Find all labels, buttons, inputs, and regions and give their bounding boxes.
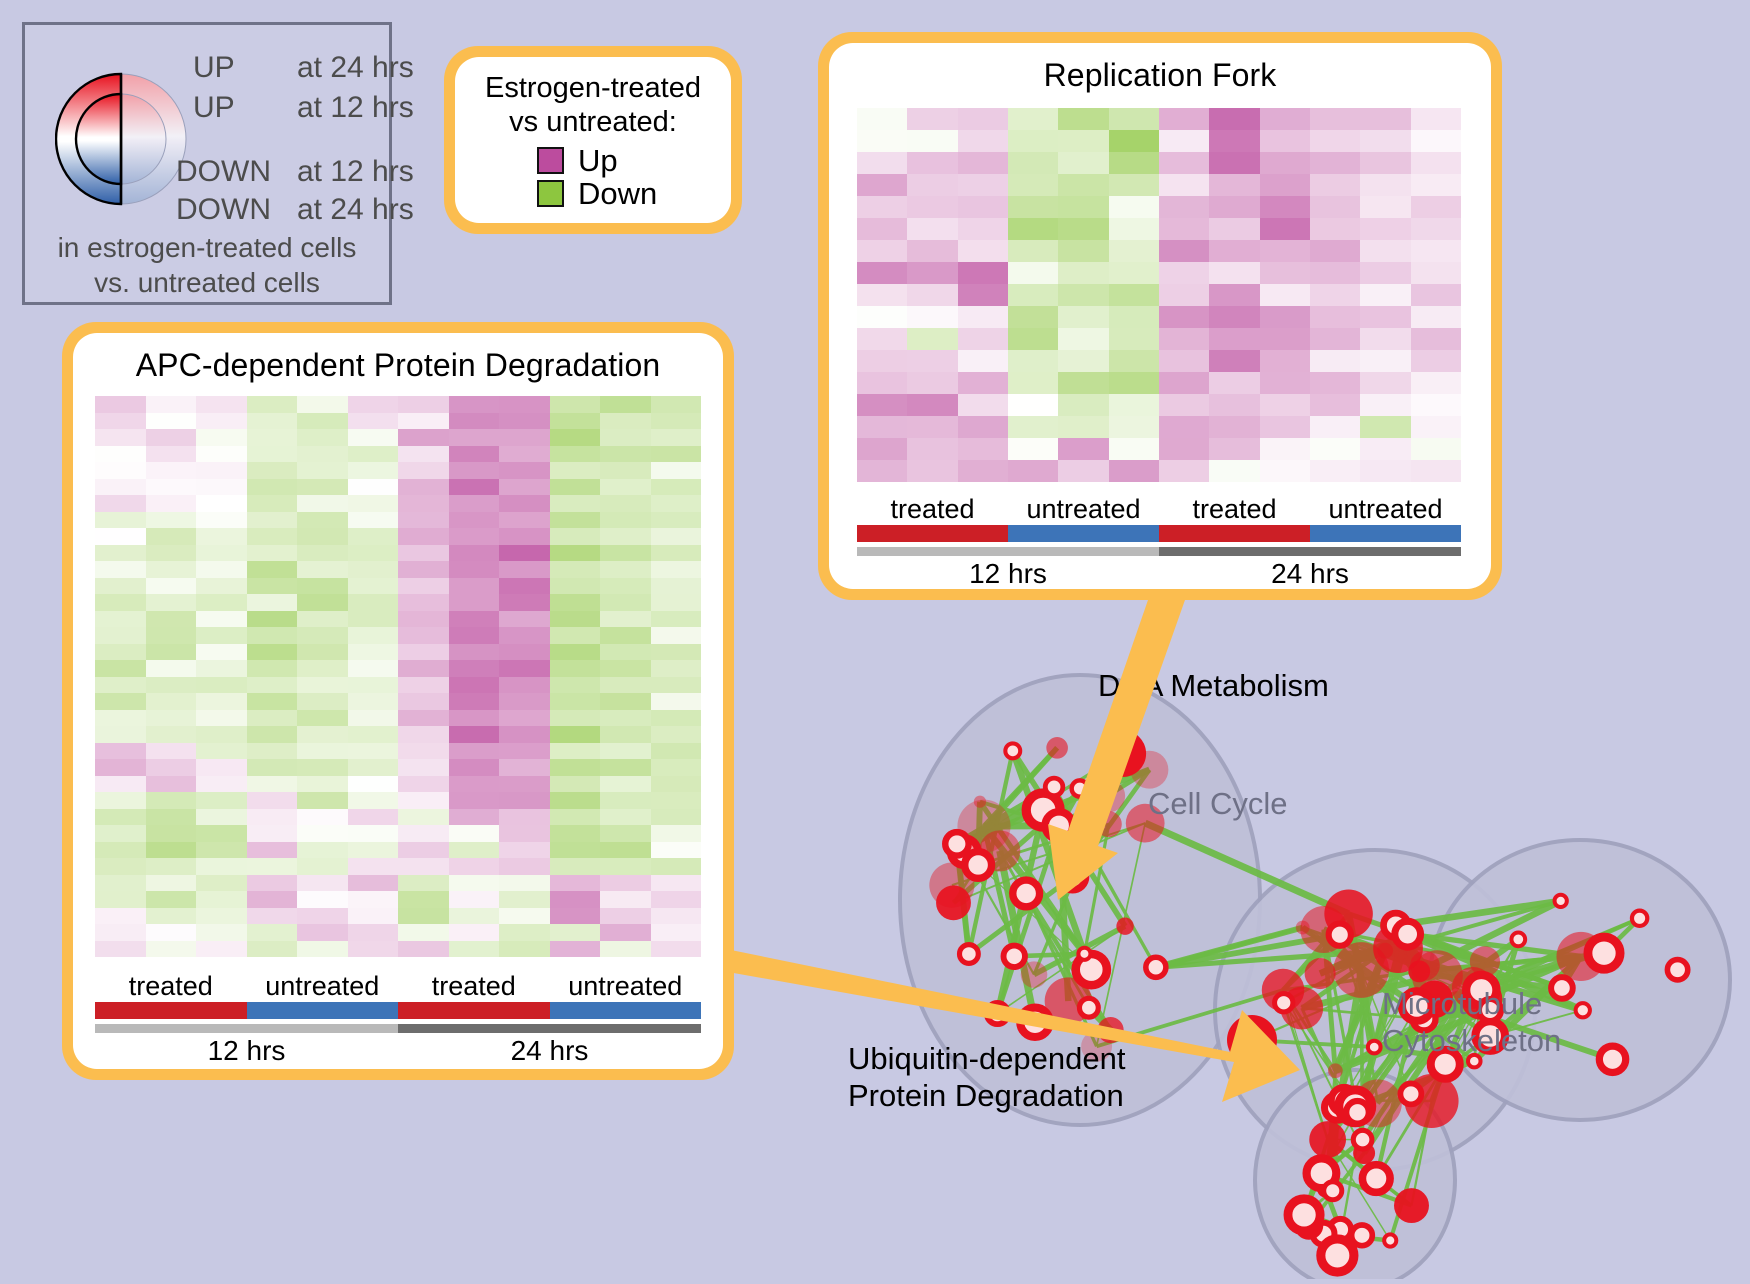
- heatmap-cell: [600, 743, 651, 760]
- heatmap-cell: [1411, 240, 1461, 262]
- heatmap-cell: [1360, 196, 1410, 218]
- heatmap-cell: [398, 561, 449, 578]
- heatmap-cell: [499, 710, 550, 727]
- legend-item-up: Up: [537, 145, 731, 176]
- heatmap-cell: [1260, 108, 1310, 130]
- condition-segment: [95, 1002, 247, 1019]
- network-node: [945, 832, 968, 855]
- network-node: [1079, 998, 1098, 1017]
- heatmap-cell: [95, 759, 146, 776]
- heatmap-cell: [297, 644, 348, 661]
- heatmap-cell: [247, 924, 298, 941]
- network-node: [1096, 811, 1122, 837]
- heatmap-cell: [196, 677, 247, 694]
- network-node: [1288, 1199, 1320, 1231]
- heatmap-cell: [95, 446, 146, 463]
- heatmap-cell: [1209, 218, 1259, 240]
- heatmap-cell: [449, 660, 500, 677]
- heatmap-cell: [907, 372, 957, 394]
- heatmap-cell: [196, 611, 247, 628]
- heatmap-cell: [857, 328, 907, 350]
- network-node: [1072, 780, 1088, 796]
- heatmap-cell: [1209, 328, 1259, 350]
- heatmap-cell: [1360, 372, 1410, 394]
- key-footer-line2: vs. untreated cells: [25, 265, 389, 300]
- network-node: [1305, 958, 1336, 989]
- heatmap-cell: [499, 776, 550, 793]
- heatmap-cell: [1008, 240, 1058, 262]
- heatmap-cell: [1310, 218, 1360, 240]
- heatmap-cell: [297, 429, 348, 446]
- heatmap-cell: [600, 594, 651, 611]
- heatmap-cell: [297, 792, 348, 809]
- heatmap-cell: [550, 941, 601, 958]
- heatmap-cell: [348, 396, 399, 413]
- heatmap-cell: [1209, 130, 1259, 152]
- network-node: [1046, 737, 1068, 759]
- apc-col-label-1: untreated: [247, 971, 399, 1002]
- heatmap-cell: [600, 660, 651, 677]
- heatmap-cell: [1411, 174, 1461, 196]
- heatmap-cell: [1310, 416, 1360, 438]
- heatmap-cell: [196, 545, 247, 562]
- heatmap-cell: [247, 677, 298, 694]
- heatmap-cell: [1411, 438, 1461, 460]
- color-scale-key: UP at 24 hrs UP at 12 hrs DOWN at 12 hrs…: [22, 22, 392, 305]
- network-node: [974, 796, 986, 808]
- heatmap-cell: [1109, 130, 1159, 152]
- heatmap-cell: [600, 561, 651, 578]
- heatmap-cell: [348, 677, 399, 694]
- heatmap-cell: [348, 875, 399, 892]
- heatmap-cell: [1260, 240, 1310, 262]
- heatmap-cell: [196, 825, 247, 842]
- network-node: [1384, 1234, 1396, 1246]
- network-node: [1599, 1046, 1625, 1072]
- heatmap-cell: [958, 460, 1008, 482]
- heatmap-cell: [95, 924, 146, 941]
- heatmap-cell: [398, 512, 449, 529]
- heatmap-cell: [499, 644, 550, 661]
- heatmap-cell: [1159, 460, 1209, 482]
- heatmap-cell: [499, 446, 550, 463]
- apc-time-label-24: 24 hrs: [398, 1035, 701, 1067]
- heatmap-cell: [1109, 218, 1159, 240]
- heatmap-cell: [1310, 328, 1360, 350]
- heatmap-cell: [449, 924, 500, 941]
- heatmap-cell: [247, 726, 298, 743]
- heatmap-cell: [95, 776, 146, 793]
- heatmap-cell: [95, 627, 146, 644]
- heatmap-cell: [196, 627, 247, 644]
- heatmap-cell: [297, 446, 348, 463]
- heatmap-cell: [857, 416, 907, 438]
- heatmap-cell: [1310, 262, 1360, 284]
- heatmap-cell: [651, 677, 702, 694]
- heatmap-cell: [600, 644, 651, 661]
- cluster-label-dna-metabolism: DNA Metabolism: [1098, 668, 1329, 704]
- color-scale-wheel: [55, 47, 187, 232]
- heatmap-cell: [297, 578, 348, 595]
- heatmap-cell: [297, 842, 348, 859]
- heatmap-cell: [857, 130, 907, 152]
- heatmap-cell: [398, 627, 449, 644]
- heatmap-cell: [857, 350, 907, 372]
- heatmap-cell: [857, 394, 907, 416]
- heatmap-cell: [499, 545, 550, 562]
- heatmap-cell: [550, 924, 601, 941]
- heatmap-cell: [907, 240, 957, 262]
- heatmap-cell: [95, 891, 146, 908]
- heatmap-cell: [1008, 438, 1058, 460]
- panel-apc-degradation: APC-dependent Protein Degradation treate…: [62, 322, 734, 1080]
- heatmap-cell: [398, 413, 449, 430]
- heatmap-cell: [247, 462, 298, 479]
- heatmap-cell: [499, 792, 550, 809]
- heatmap-cell: [146, 792, 197, 809]
- legend-items: Up Down: [455, 145, 731, 209]
- heatmap-cell: [1109, 284, 1159, 306]
- heatmap-cell: [1360, 350, 1410, 372]
- heatmap-cell: [1008, 372, 1058, 394]
- heatmap-cell: [907, 284, 957, 306]
- heatmap-cell: [1310, 306, 1360, 328]
- heatmap-cell: [1058, 416, 1108, 438]
- network-node: [1352, 1225, 1373, 1246]
- heatmap-cell: [1360, 108, 1410, 130]
- network-node: [1346, 1101, 1369, 1124]
- heatmap-cell: [1310, 152, 1360, 174]
- heatmap-cell: [449, 858, 500, 875]
- heatmap-cell: [600, 842, 651, 859]
- heatmap-cell: [550, 908, 601, 925]
- heatmap-cell: [95, 413, 146, 430]
- heatmap-cell: [1109, 394, 1159, 416]
- heatmap-cell: [449, 842, 500, 859]
- network-node: [1632, 911, 1647, 926]
- heatmap-cell: [958, 284, 1008, 306]
- heatmap-cell: [146, 908, 197, 925]
- heatmap-cell: [297, 561, 348, 578]
- apc-time-bar: [95, 1024, 701, 1033]
- heatmap-cell: [348, 792, 399, 809]
- heatmap-cell: [958, 394, 1008, 416]
- heatmap-cell: [1310, 130, 1360, 152]
- apc-column-labels: treated untreated treated untreated: [95, 971, 701, 1002]
- heatmap-cell: [196, 495, 247, 512]
- heatmap-cell: [651, 809, 702, 826]
- heatmap-cell: [398, 528, 449, 545]
- heatmap-cell: [247, 594, 298, 611]
- heatmap-cell: [550, 875, 601, 892]
- heatmap-cell: [348, 660, 399, 677]
- heatmap-cell: [297, 545, 348, 562]
- heatmap-cell: [1411, 416, 1461, 438]
- heatmap-cell: [907, 460, 957, 482]
- heatmap-cell: [1159, 240, 1209, 262]
- heatmap-cell: [297, 891, 348, 908]
- heatmap-cell: [196, 693, 247, 710]
- heatmap-cell: [499, 479, 550, 496]
- heatmap-cell: [247, 446, 298, 463]
- heatmap-cell: [1411, 152, 1461, 174]
- heatmap-cell: [958, 416, 1008, 438]
- heatmap-cell: [348, 759, 399, 776]
- heatmap-cell: [146, 891, 197, 908]
- heatmap-cell: [449, 627, 500, 644]
- heatmap-cell: [449, 545, 500, 562]
- heatmap-cell: [600, 693, 651, 710]
- heatmap-cell: [1058, 130, 1108, 152]
- heatmap-cell: [449, 677, 500, 694]
- network-node: [936, 885, 971, 920]
- heatmap-cell: [1159, 130, 1209, 152]
- heatmap-cell: [1008, 284, 1058, 306]
- heatmap-cell: [146, 743, 197, 760]
- network-node: [1078, 948, 1090, 960]
- heatmap-cell: [1159, 350, 1209, 372]
- rf-col-label-0: treated: [857, 494, 1008, 525]
- heatmap-cell: [1209, 240, 1259, 262]
- network-node: [1368, 1041, 1381, 1054]
- heatmap-cell: [958, 152, 1008, 174]
- heatmap-cell: [247, 743, 298, 760]
- network-node: [1005, 743, 1020, 758]
- heatmap-cell: [499, 677, 550, 694]
- heatmap-cell: [499, 693, 550, 710]
- heatmap-cell: [1058, 196, 1108, 218]
- heatmap-cell: [499, 413, 550, 430]
- heatmap-cell: [398, 495, 449, 512]
- heatmap-cell: [398, 578, 449, 595]
- heatmap-cell: [297, 495, 348, 512]
- heatmap-cell: [449, 710, 500, 727]
- heatmap-cell: [651, 891, 702, 908]
- heatmap-cell: [247, 825, 298, 842]
- heatmap-cell: [600, 726, 651, 743]
- heatmap-cell: [958, 218, 1008, 240]
- heatmap-cell: [95, 693, 146, 710]
- heatmap-cell: [600, 858, 651, 875]
- heatmap-cell: [1109, 460, 1159, 482]
- network-node: [960, 945, 979, 964]
- time-segment: [857, 547, 1159, 556]
- condition-segment: [550, 1002, 702, 1019]
- heatmap-cell: [651, 611, 702, 628]
- heatmap-cell: [449, 462, 500, 479]
- heatmap-cell: [196, 875, 247, 892]
- heatmap-cell: [550, 693, 601, 710]
- heatmap-cell: [550, 528, 601, 545]
- heatmap-cell: [651, 743, 702, 760]
- heatmap-cell: [146, 413, 197, 430]
- heatmap-cell: [146, 396, 197, 413]
- heatmap-cell: [550, 776, 601, 793]
- heatmap-cell: [1310, 394, 1360, 416]
- heatmap-cell: [907, 438, 957, 460]
- heatmap-cell: [95, 809, 146, 826]
- panel-replication-fork: Replication Fork treated untreated treat…: [818, 32, 1502, 600]
- heatmap-cell: [1109, 196, 1159, 218]
- heatmap-cell: [449, 825, 500, 842]
- network-node: [1059, 864, 1085, 890]
- heatmap-cell: [348, 924, 399, 941]
- network-node: [965, 852, 992, 879]
- heatmap-cell: [550, 809, 601, 826]
- heatmap-cell: [247, 512, 298, 529]
- heatmap-cell: [600, 611, 651, 628]
- key-time-up-24: at 24 hrs: [297, 51, 414, 85]
- network-node: [1004, 946, 1025, 967]
- heatmap-cell: [499, 462, 550, 479]
- heatmap-cell: [1411, 218, 1461, 240]
- heatmap-cell: [1209, 438, 1259, 460]
- heatmap-cell: [196, 908, 247, 925]
- legend-title-line2: vs untreated:: [455, 105, 731, 139]
- heatmap-cell: [550, 578, 601, 595]
- heatmap-cell: [958, 306, 1008, 328]
- heatmap-cell: [1159, 284, 1209, 306]
- condition-segment: [1008, 525, 1159, 542]
- heatmap-cell: [1159, 152, 1209, 174]
- heatmap-cell: [348, 627, 399, 644]
- heatmap-cell: [958, 350, 1008, 372]
- cluster-label-cell-cycle: Cell Cycle: [1148, 786, 1288, 822]
- heatmap-cell: [348, 644, 399, 661]
- heatmap-cell: [1058, 240, 1108, 262]
- heatmap-cell: [1159, 416, 1209, 438]
- heatmap-cell: [449, 396, 500, 413]
- heatmap-cell: [550, 495, 601, 512]
- heatmap-cell: [651, 462, 702, 479]
- heatmap-cell: [958, 372, 1008, 394]
- heatmap-cell: [499, 743, 550, 760]
- heatmap-cell: [1008, 262, 1058, 284]
- heatmap-cell: [651, 875, 702, 892]
- heatmap-cell: [95, 726, 146, 743]
- heatmap-cell: [398, 792, 449, 809]
- heatmap-cell: [348, 858, 399, 875]
- heatmap-cell: [1411, 108, 1461, 130]
- heatmap-cell: [297, 677, 348, 694]
- heatmap-cell: [196, 743, 247, 760]
- heatmap-cell: [907, 306, 957, 328]
- heatmap-cell: [449, 644, 500, 661]
- network-node: [1400, 1083, 1421, 1104]
- heatmap-cell: [1310, 108, 1360, 130]
- heatmap-cell: [196, 776, 247, 793]
- heatmap-cell: [297, 809, 348, 826]
- heatmap-cell: [1159, 196, 1209, 218]
- heatmap-cell: [1360, 438, 1410, 460]
- condition-segment: [398, 1002, 550, 1019]
- heatmap-cell: [1058, 328, 1108, 350]
- heatmap-cell: [449, 941, 500, 958]
- network-node: [1275, 994, 1293, 1012]
- heatmap-cell: [146, 644, 197, 661]
- heatmap-cell: [857, 196, 907, 218]
- heatmap-cell: [196, 446, 247, 463]
- heatmap-cell: [1260, 438, 1310, 460]
- heatmap-cell: [499, 941, 550, 958]
- condition-segment: [247, 1002, 399, 1019]
- heatmap-cell: [958, 262, 1008, 284]
- heatmap-cell: [499, 875, 550, 892]
- legend-label-up: Up: [578, 145, 618, 176]
- heatmap-cell: [196, 759, 247, 776]
- heatmap-cell: [550, 726, 601, 743]
- heatmap-cell: [247, 809, 298, 826]
- heatmap-cell: [651, 825, 702, 842]
- time-segment: [95, 1024, 398, 1033]
- heatmap-cell: [907, 174, 957, 196]
- heatmap-cell: [196, 578, 247, 595]
- heatmap-cell: [550, 413, 601, 430]
- heatmap-cell: [247, 627, 298, 644]
- heatmap-cell: [1058, 350, 1108, 372]
- heatmap-cell: [449, 693, 500, 710]
- heatmap-cell: [1411, 284, 1461, 306]
- heatmap-cell: [1310, 174, 1360, 196]
- heatmap-cell: [348, 561, 399, 578]
- heatmap-cell: [196, 528, 247, 545]
- heatmap-cell: [499, 512, 550, 529]
- heatmap-cell: [1260, 218, 1310, 240]
- heatmap-cell: [146, 924, 197, 941]
- heatmap-cell: [499, 578, 550, 595]
- heatmap-cell: [196, 809, 247, 826]
- heatmap-cell: [449, 759, 500, 776]
- heatmap-cell: [1008, 460, 1058, 482]
- heatmap-cell: [297, 528, 348, 545]
- legend-item-down: Down: [537, 178, 731, 209]
- heatmap-cell: [1058, 108, 1108, 130]
- heatmap-cell: [1109, 438, 1159, 460]
- network-node: [1329, 924, 1351, 946]
- network-graph: [790, 610, 1750, 1279]
- heatmap-cell: [247, 759, 298, 776]
- heatmap-cell: [146, 776, 197, 793]
- heatmap-cell: [196, 429, 247, 446]
- heatmap-cell: [600, 462, 651, 479]
- heatmap-cell: [1209, 152, 1259, 174]
- heatmap-cell: [550, 446, 601, 463]
- heatmap-cell: [247, 578, 298, 595]
- heatmap-cell: [550, 743, 601, 760]
- heatmap-cell: [600, 875, 651, 892]
- heatmap-cell: [95, 941, 146, 958]
- heatmap-cell: [1360, 152, 1410, 174]
- heatmap-cell: [1109, 108, 1159, 130]
- condition-segment: [1310, 525, 1461, 542]
- heatmap-apc: [95, 396, 701, 957]
- network-node: [1021, 961, 1048, 988]
- network-node: [1321, 1239, 1354, 1272]
- legend-title-line1: Estrogen-treated: [455, 71, 731, 105]
- heatmap-cell: [550, 594, 601, 611]
- heatmap-cell: [247, 693, 298, 710]
- heatmap-cell: [398, 891, 449, 908]
- network-node: [1576, 1003, 1590, 1017]
- apc-title: APC-dependent Protein Degradation: [73, 333, 723, 384]
- heatmap-cell: [499, 396, 550, 413]
- heatmap-cell: [449, 479, 500, 496]
- heatmap-cell: [1058, 460, 1108, 482]
- network-node: [1588, 937, 1620, 969]
- heatmap-cell: [1058, 306, 1108, 328]
- heatmap-cell: [247, 611, 298, 628]
- heatmap-cell: [600, 512, 651, 529]
